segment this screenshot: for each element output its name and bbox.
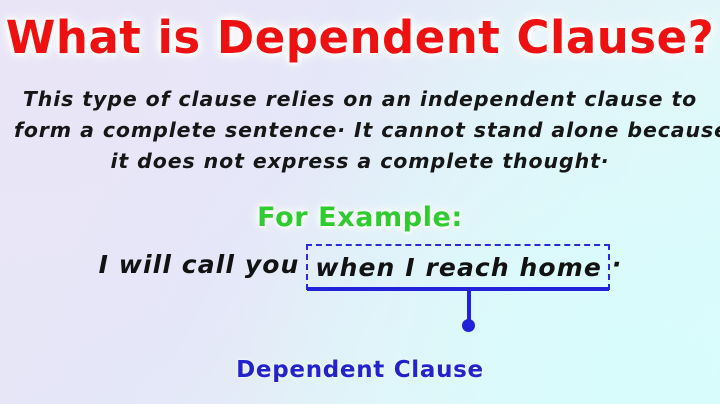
example-sentence: I will call you when I reach home · xyxy=(0,244,720,294)
dependent-clause-text: when I reach home xyxy=(315,253,602,283)
callout-connector-dot xyxy=(462,319,475,332)
sentence-period: · xyxy=(610,244,622,286)
independent-clause-text: I will call you xyxy=(99,244,307,286)
page-title: What is Dependent Clause? xyxy=(0,8,720,68)
definition-line-2: form a complete sentence· It cannot stan… xyxy=(14,115,706,146)
definition-paragraph: This type of clause relies on an indepen… xyxy=(14,84,706,177)
dependent-clause-highlight-box: when I reach home xyxy=(306,244,610,290)
definition-line-1: This type of clause relies on an indepen… xyxy=(14,84,706,115)
definition-line-3: it does not express a complete thought· xyxy=(14,146,706,177)
slide-canvas: What is Dependent Clause? This type of c… xyxy=(0,0,720,404)
callout-label: Dependent Clause xyxy=(0,354,720,386)
example-heading: For Example: xyxy=(0,200,720,236)
highlight-box-underline xyxy=(307,287,609,291)
